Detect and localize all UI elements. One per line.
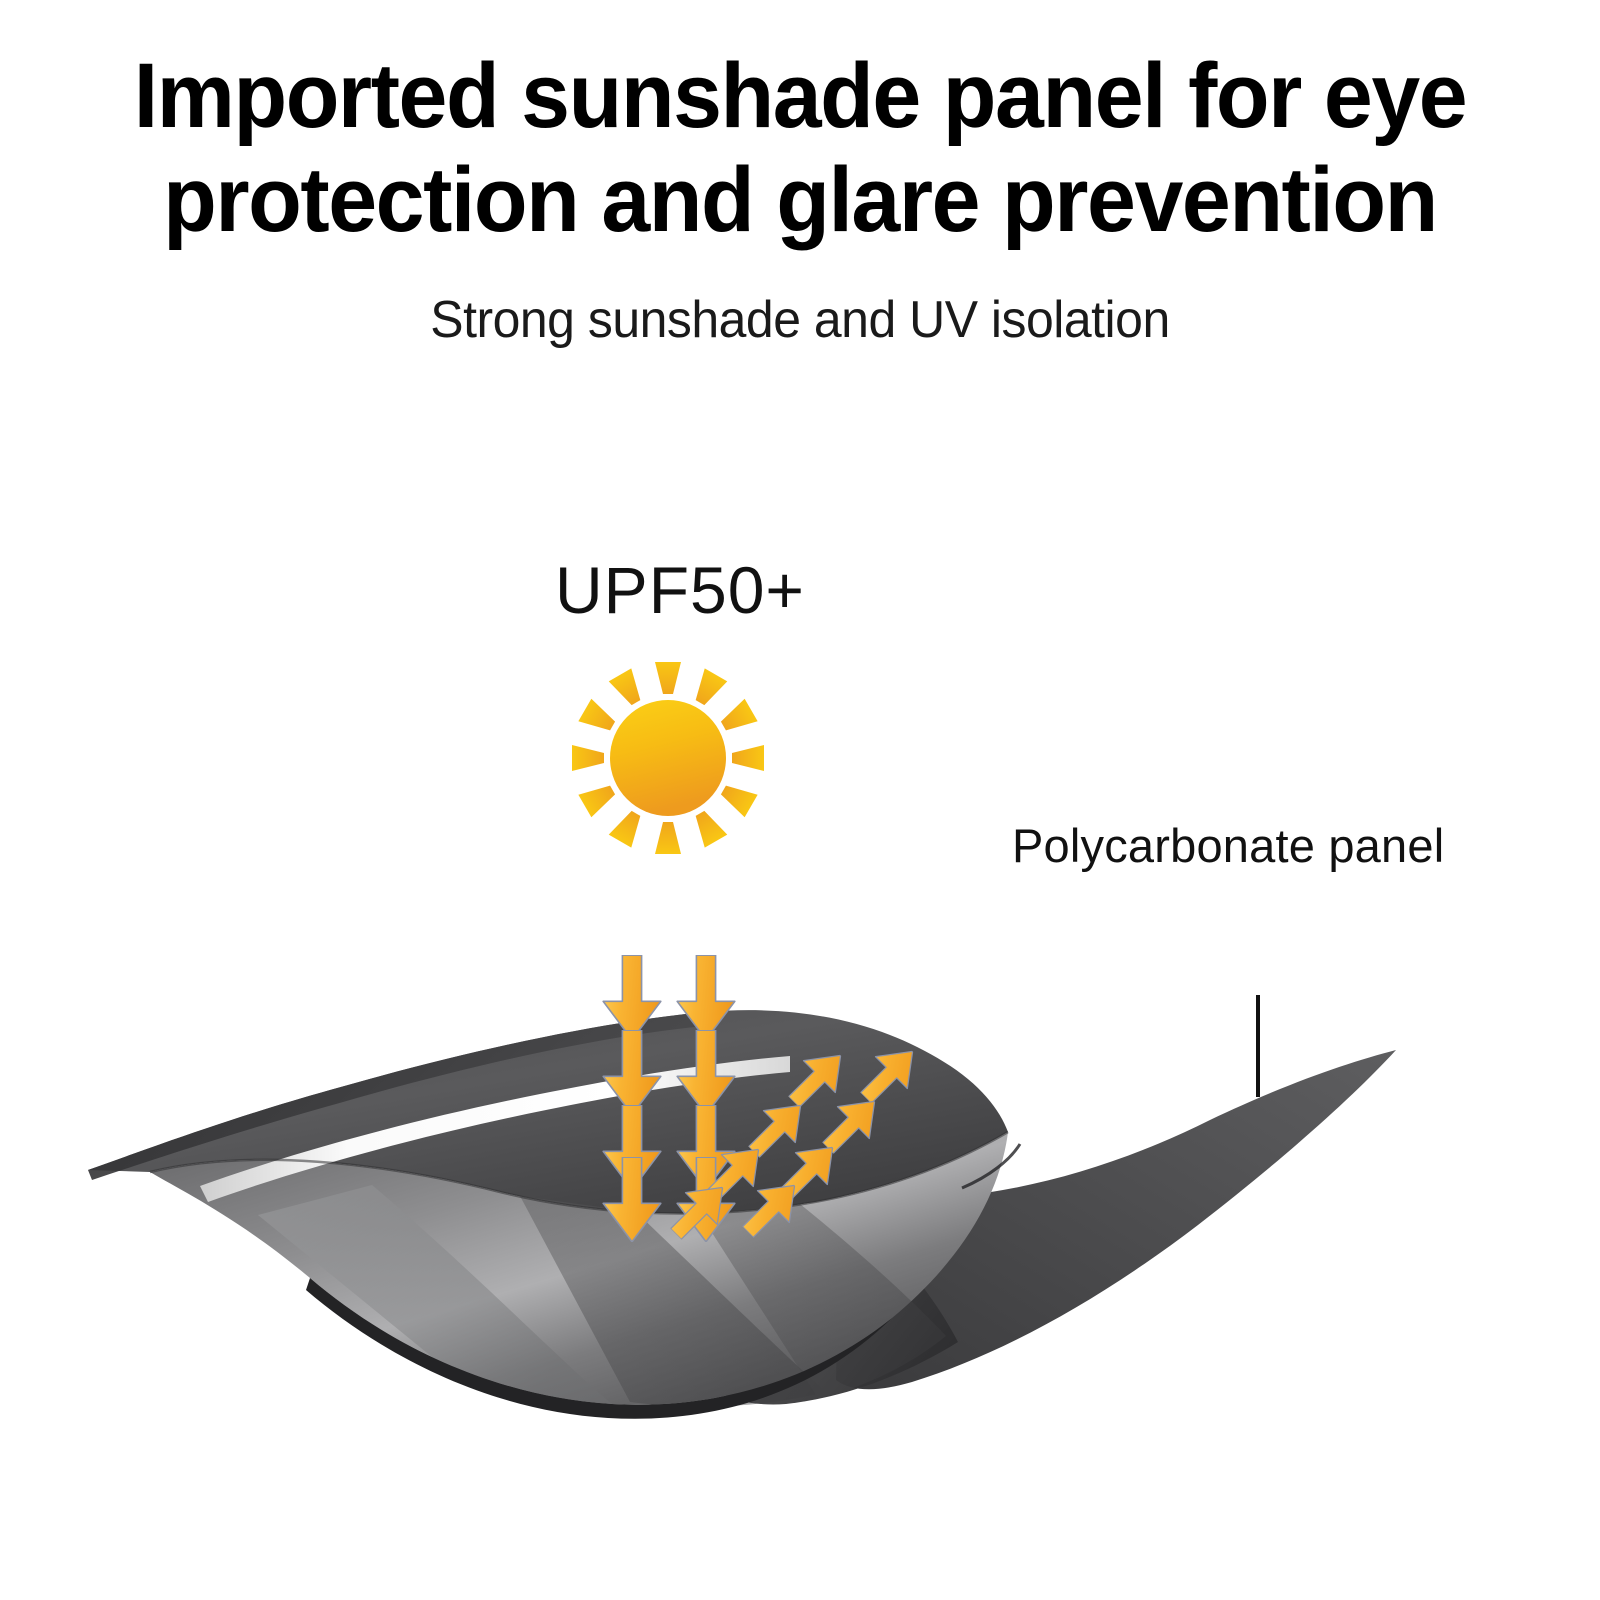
sun-icon xyxy=(572,662,764,854)
sunshade-panel-illustration xyxy=(0,0,1600,1600)
infographic-canvas: Imported sunshade panel for eye protecti… xyxy=(0,0,1600,1600)
polycarbonate-panel xyxy=(88,1010,1396,1419)
sun-disc xyxy=(610,700,726,816)
